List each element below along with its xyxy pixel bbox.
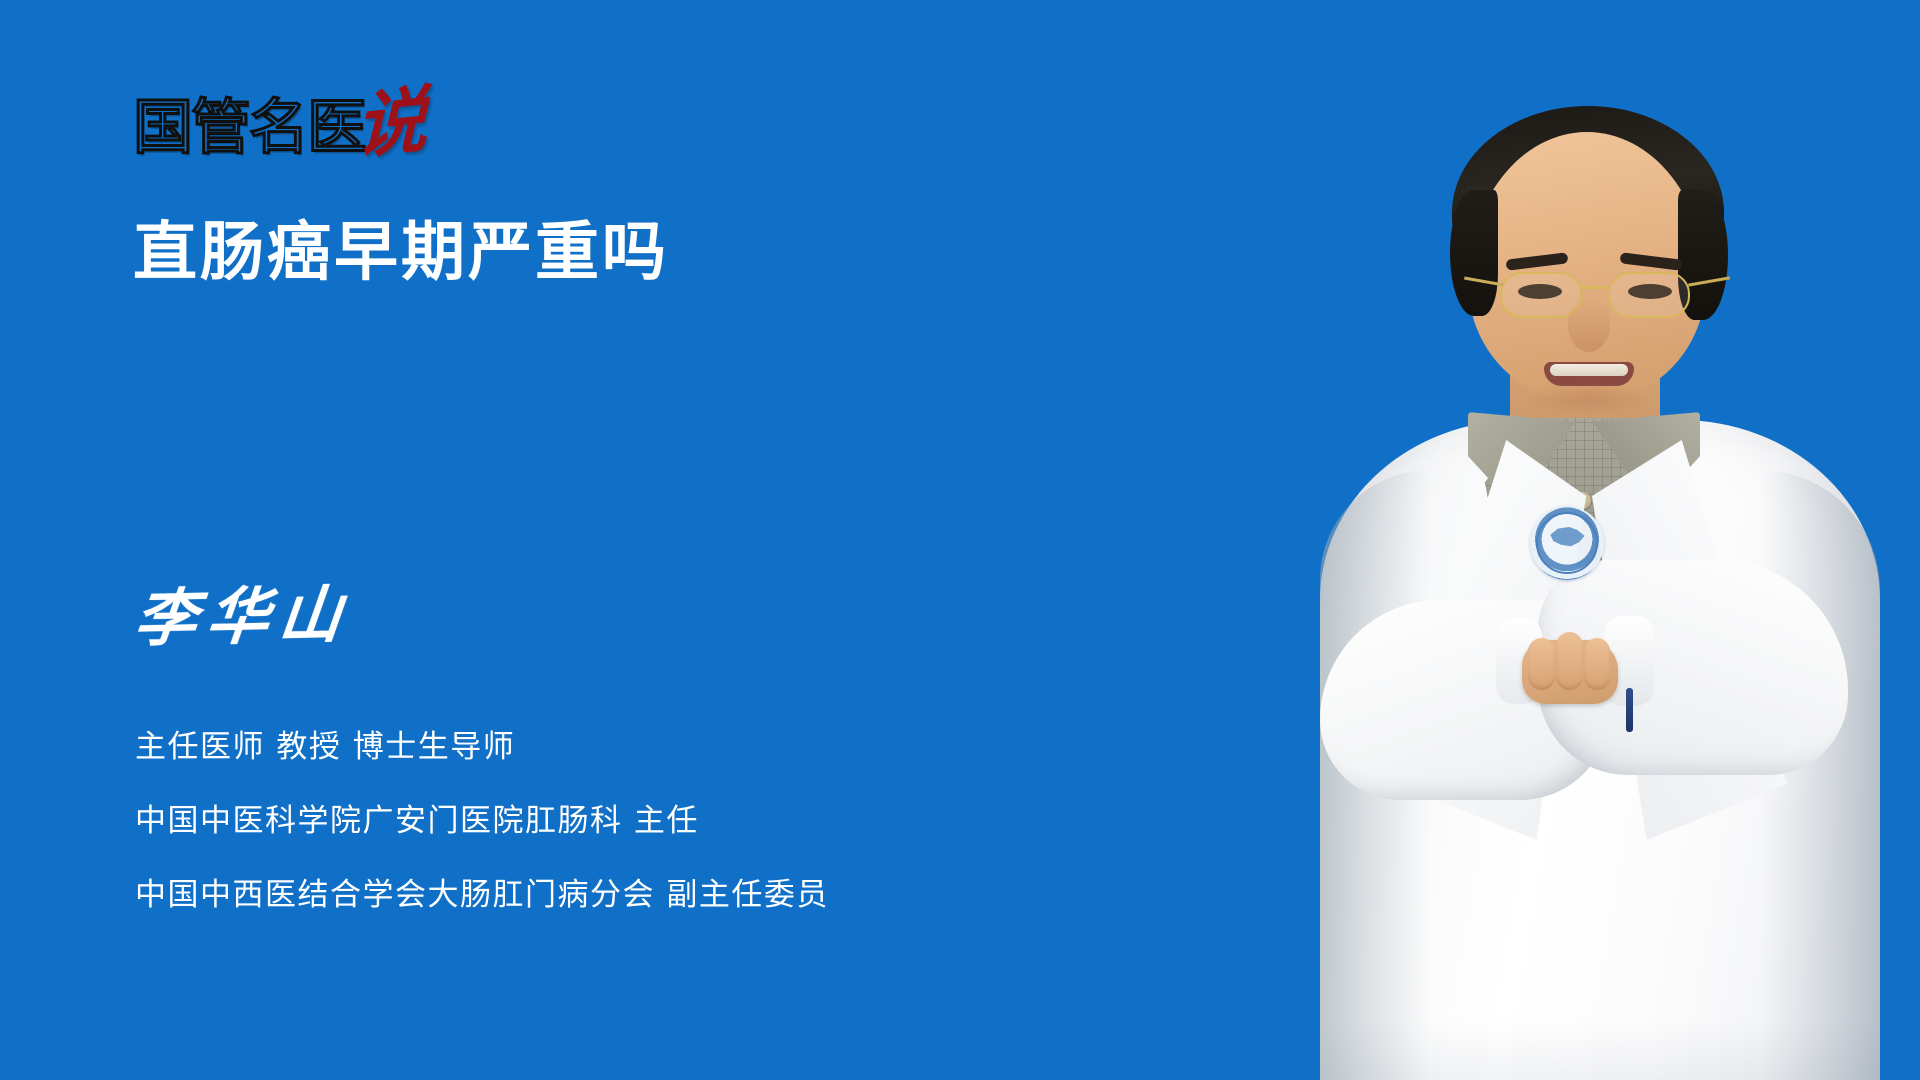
program-logo-main-text: 国管名医 [133,97,365,159]
credential-line: 主任医师 教授 博士生导师 [135,728,829,766]
doctor-portrait-photo [1200,40,1920,1080]
program-logo-accent-text: 说 [355,88,427,158]
finger [1556,632,1583,690]
credential-line: 中国中西医结合学会大肠肛门病分会 副主任委员 [135,876,829,914]
eyeglasses-lens-right [1608,272,1690,318]
doctor-credentials: 主任医师 教授 博士生导师 中国中医科学院广安门医院肛肠科 主任 中国中西医结合… [135,728,829,914]
doctor-name: 李华山 [131,576,355,659]
program-logo: 国管名医 说 [133,92,427,166]
finger [1584,638,1610,690]
credential-line: 中国中医科学院广安门医院肛肠科 主任 [135,802,829,840]
nose [1568,298,1610,352]
chin-shading [1524,382,1652,416]
finger [1528,638,1555,690]
hair-side-left [1450,190,1498,316]
video-cover-slide: 国管名医 说 直肠癌早期严重吗 李华山 主任医师 教授 博士生导师 中国中医科学… [0,0,1920,1080]
pocket-pen-icon [1626,688,1633,732]
bottom-shading [1320,1020,1880,1080]
eyeglasses-bridge [1582,286,1608,289]
teeth [1550,364,1628,376]
page-title: 直肠癌早期严重吗 [133,212,669,294]
